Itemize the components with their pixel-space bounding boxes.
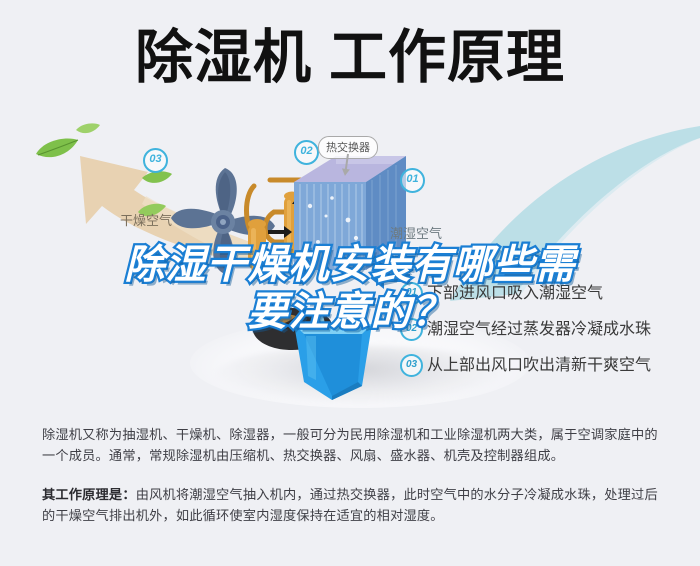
green-leaves [18,120,128,190]
header-banner: 除湿机 工作原理 [0,0,700,118]
diagram-badge-03: 03 [143,148,168,173]
step-item: 02 潮湿空气经过蒸发器冷凝成水珠 [400,312,700,348]
paragraph-2-lead: 其工作原理是： [42,487,136,502]
paragraph-2: 其工作原理是：由风机将潮湿空气抽入机内，通过热交换器，此时空气中的水分子冷凝成水… [42,466,658,526]
diagram-badge-01: 01 [400,168,425,193]
step-text-01: 下部进风口吸入潮湿空气 [427,279,603,303]
page-title: 除湿机 工作原理 [0,22,700,94]
step-badge-02: 02 [400,318,423,341]
water-tank: 水箱 [250,308,400,406]
paragraph-1: 除湿机又称为抽湿机、干燥机、除湿器，一般可分为民用除湿机和工业除湿机两大类，属于… [42,412,658,466]
step-badge-01: 01 [400,282,423,305]
step-text-02: 潮湿空气经过蒸发器冷凝成水珠 [427,315,651,339]
step-text-03: 从上部出风口吹出清新干爽空气 [427,351,651,375]
humid-air-label: 潮湿空气 [390,223,442,242]
step-item: 03 从上部出风口吹出清新干爽空气 [400,348,700,384]
dry-air-label: 干燥空气 [120,210,172,229]
working-principle-diagram: 水箱 03 干燥空气 02 热交换器 01 潮湿空气 01 下部进风口吸入潮湿空… [0,118,700,410]
step-item: 01 下部进风口吸入潮湿空气 [400,276,700,312]
step-list: 01 下部进风口吸入潮湿空气 02 潮湿空气经过蒸发器冷凝成水珠 03 从上部出… [400,276,700,384]
step-badge-03: 03 [400,354,423,377]
article-body: 除湿机又称为抽湿机、干燥机、除湿器，一般可分为民用除湿机和工业除湿机两大类，属于… [0,412,700,566]
diagram-badge-02: 02 [294,140,319,165]
